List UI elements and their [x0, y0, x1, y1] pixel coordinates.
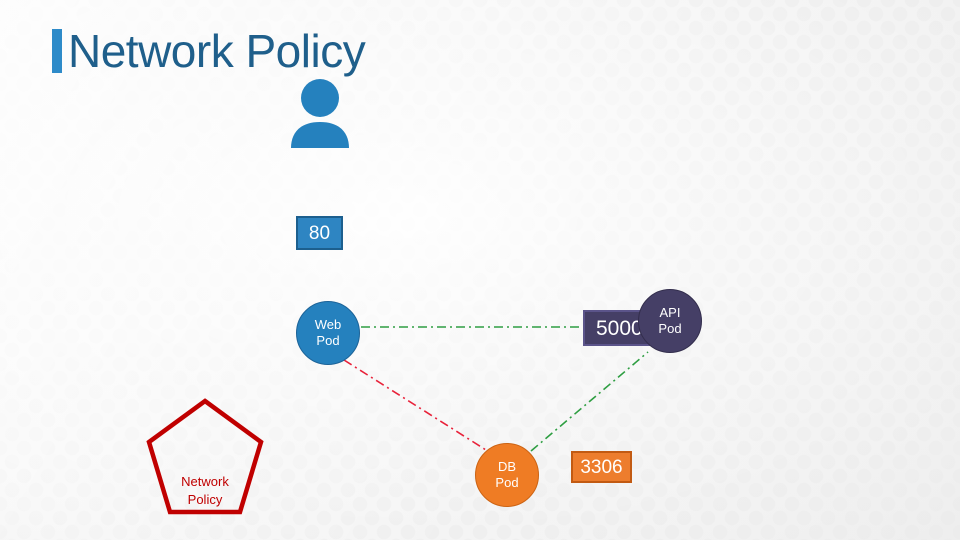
person-icon — [285, 78, 355, 150]
pentagon-label-line2: Policy — [163, 491, 247, 509]
node-api-pod[interactable]: API Pod — [638, 289, 702, 353]
node-db-pod[interactable]: DB Pod — [475, 443, 539, 507]
page-title: Network Policy — [68, 28, 365, 74]
node-web-pod[interactable]: Web Pod — [296, 301, 360, 365]
node-db-pod-line2: Pod — [495, 475, 518, 491]
port-badge-80[interactable]: 80 — [296, 216, 343, 250]
node-api-pod-line2: Pod — [658, 321, 681, 337]
pentagon-label-line1: Network — [163, 473, 247, 491]
node-db-pod-line1: DB — [498, 459, 516, 475]
node-web-pod-line2: Pod — [316, 333, 339, 349]
port-badge-3306-label: 3306 — [580, 458, 622, 477]
pentagon-label: Network Policy — [163, 473, 247, 508]
node-api-pod-line1: API — [660, 305, 681, 321]
node-web-pod-line1: Web — [315, 317, 342, 333]
port-badge-80-label: 80 — [309, 224, 330, 243]
connection-web-to-db — [344, 360, 486, 450]
title-block: Network Policy — [52, 28, 365, 74]
connection-db-to-api — [531, 352, 648, 451]
title-accent-bar — [52, 29, 62, 73]
port-badge-5000-label: 5000 — [596, 318, 643, 339]
slide-canvas: Network Policy 80 5000 3306 Web Pod API … — [0, 0, 960, 540]
port-badge-3306[interactable]: 3306 — [571, 451, 632, 483]
